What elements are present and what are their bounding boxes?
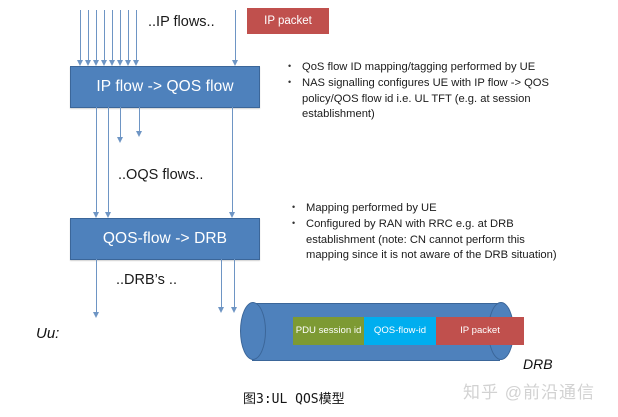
note-text: Mapping performed by UE xyxy=(306,201,560,216)
note-item: • QoS flow ID mapping/tagging performed … xyxy=(288,60,556,75)
label-uu: Uu: xyxy=(36,325,59,342)
bullet-icon: • xyxy=(292,217,306,231)
figure-caption: 图3:UL QOS模型 xyxy=(243,388,345,407)
note-text: Configured by RAN with RRC e.g. at DRB e… xyxy=(306,217,560,263)
pdu-packet: PDU session id QOS-flow-id IP packet xyxy=(293,317,524,345)
note-text: NAS signalling configures UE with IP flo… xyxy=(302,76,556,122)
arrow-drb-2 xyxy=(221,259,224,313)
arrow-oqs-short-2 xyxy=(139,107,142,137)
arrow-drb-3 xyxy=(234,259,237,313)
segment-pdu-session-id: PDU session id xyxy=(293,317,364,345)
drb-cylinder: PDU session id QOS-flow-id IP packet xyxy=(240,303,512,359)
arrow-oqs-short-1 xyxy=(120,107,123,143)
note-item: • NAS signalling configures UE with IP f… xyxy=(288,76,556,122)
arrow-ip-packet-down xyxy=(235,10,238,66)
segment-qos-flow-id: QOS-flow-id xyxy=(364,317,436,345)
diagram-canvas: ..IP flows.. IP packet IP flow -> QOS fl… xyxy=(0,0,618,417)
label-drbs: ..DRB’s .. xyxy=(116,272,177,288)
note-text: QoS flow ID mapping/tagging performed by… xyxy=(302,60,556,75)
note-item: • Configured by RAN with RRC e.g. at DRB… xyxy=(292,217,560,263)
notes-bottom: • Mapping performed by UE • Configured b… xyxy=(292,201,560,265)
label-oqs-flows: ..OQS flows.. xyxy=(118,167,203,183)
bullet-icon: • xyxy=(288,76,302,90)
notes-top: • QoS flow ID mapping/tagging performed … xyxy=(288,60,556,124)
label-ip-flows: ..IP flows.. xyxy=(148,14,215,30)
cylinder-cap-left xyxy=(240,302,266,360)
box-ip-flow-to-qos-flow[interactable]: IP flow -> QOS flow xyxy=(70,66,260,108)
note-item: • Mapping performed by UE xyxy=(292,201,560,216)
chip-ip-packet-top: IP packet xyxy=(247,8,329,34)
watermark: 知乎 @前沿通信 xyxy=(463,378,595,403)
arrow-oqs-long-3 xyxy=(232,107,235,218)
segment-ip-packet: IP packet xyxy=(436,317,524,345)
label-drb: DRB xyxy=(523,356,553,372)
bullet-icon: • xyxy=(292,201,306,215)
arrow-oqs-long-1 xyxy=(96,107,99,218)
arrow-drb-1 xyxy=(96,259,99,318)
box-qos-flow-to-drb[interactable]: QOS-flow -> DRB xyxy=(70,218,260,260)
arrow-oqs-long-2 xyxy=(108,107,111,218)
bullet-icon: • xyxy=(288,60,302,74)
